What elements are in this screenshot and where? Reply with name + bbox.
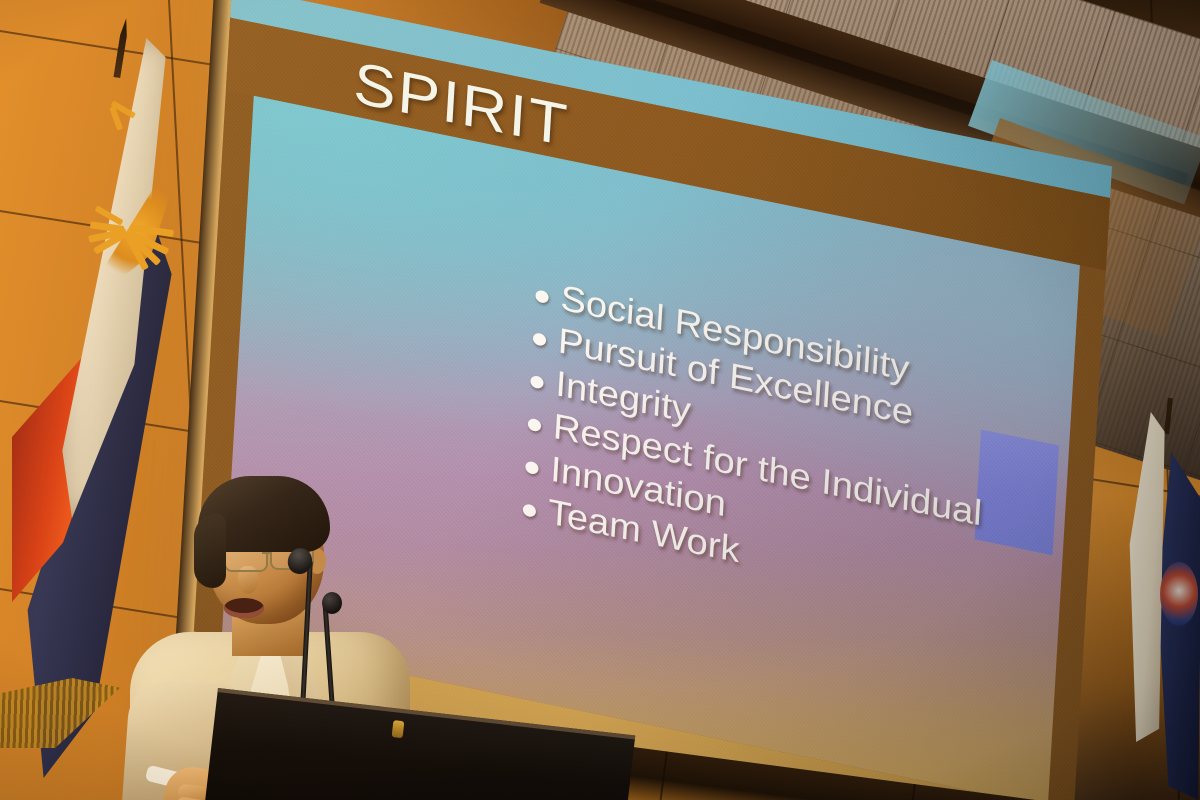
flag-seal-emblem xyxy=(1160,562,1198,626)
eyeglasses-bridge xyxy=(262,552,272,554)
speaker-hair-side xyxy=(194,514,226,588)
microphone-head-icon xyxy=(322,592,342,614)
flag-fringe xyxy=(0,678,120,748)
institutional-flag xyxy=(1122,412,1200,800)
bullet-dot-icon xyxy=(533,332,547,347)
bullet-dot-icon xyxy=(528,418,542,433)
speaker-mouth xyxy=(224,598,264,618)
slide-accent-rectangle xyxy=(975,429,1059,555)
wall-panel-seam xyxy=(649,751,668,800)
podium-emblem-icon xyxy=(392,720,405,738)
bullet-dot-icon xyxy=(523,503,537,518)
bullet-dot-icon xyxy=(530,375,544,390)
presentation-photo: SPIRIT Social Responsibility Pursuit of … xyxy=(0,0,1200,800)
bullet-dot-icon xyxy=(535,289,549,304)
bullet-dot-icon xyxy=(525,460,539,475)
wall-panel-seam xyxy=(897,784,916,800)
slide-bullet-list: Social Responsibility Pursuit of Excelle… xyxy=(522,273,991,623)
